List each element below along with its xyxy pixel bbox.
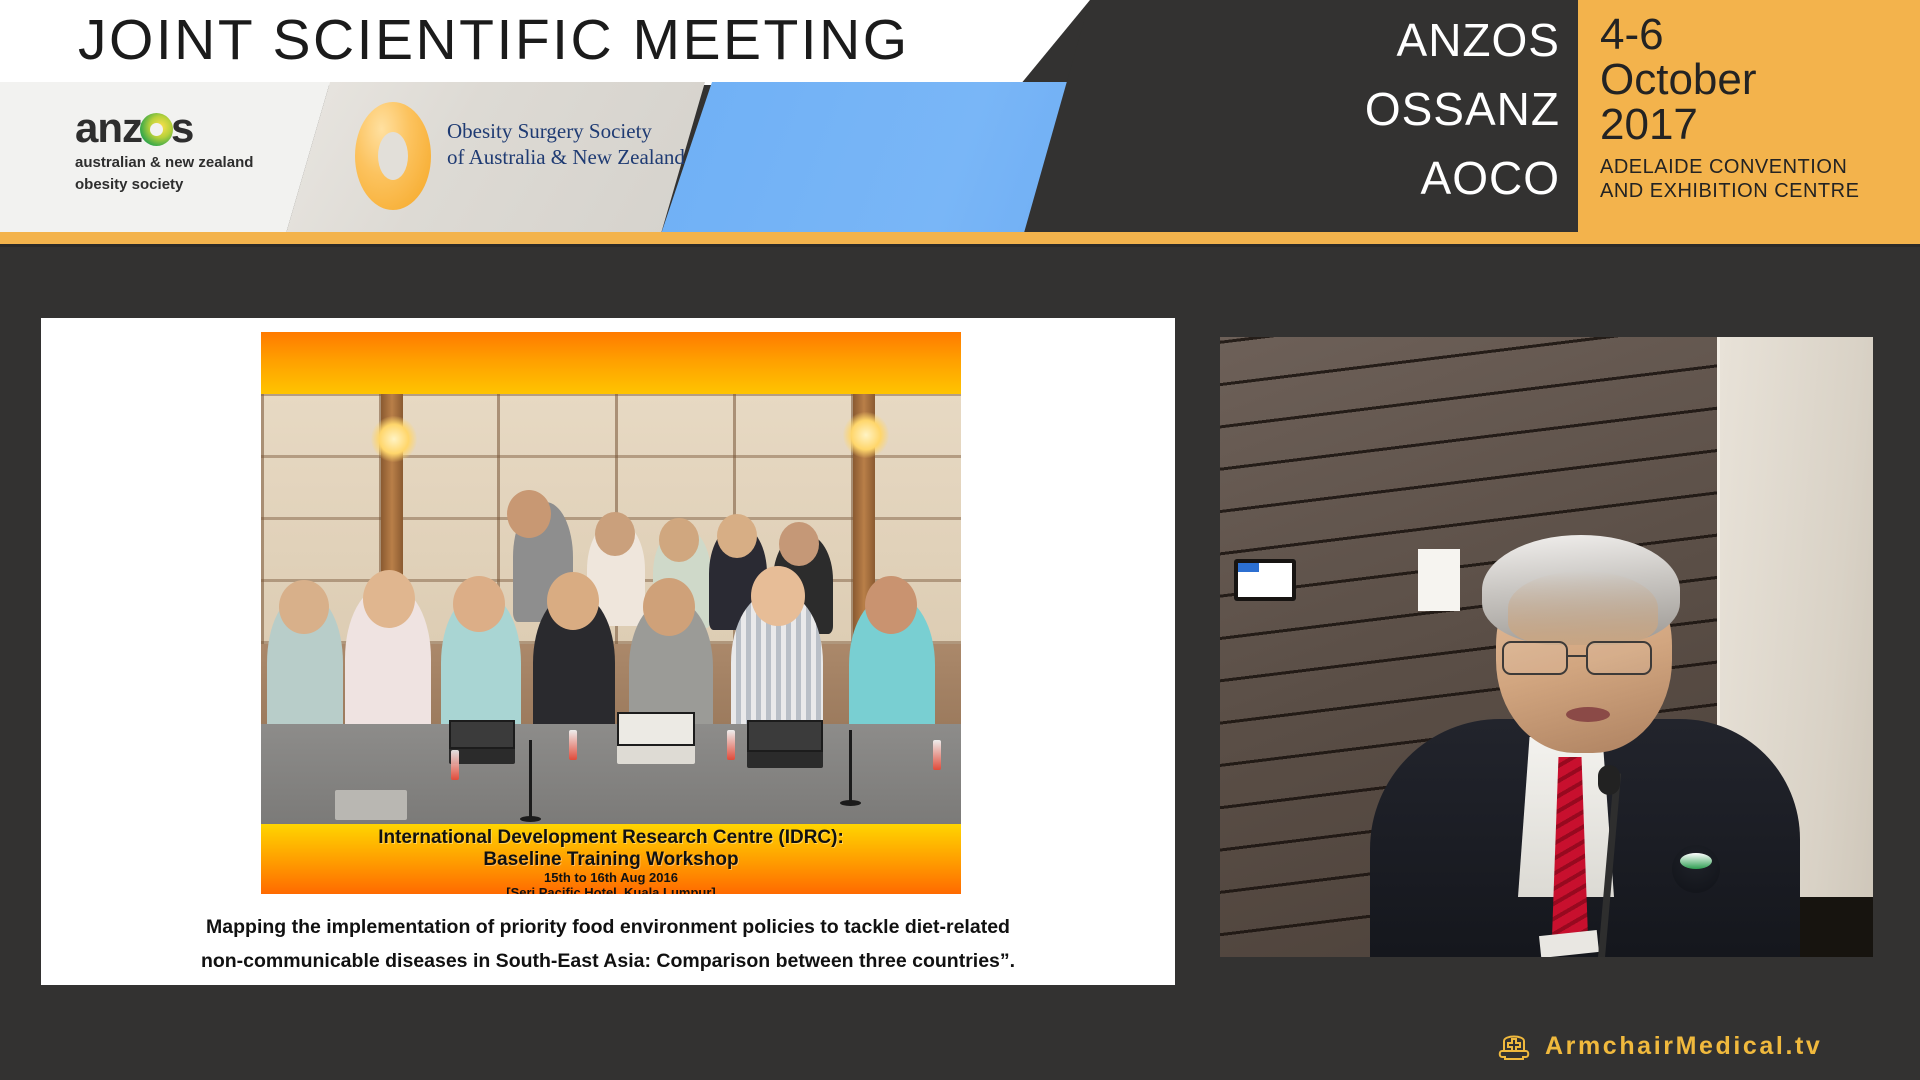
anzos-subtitle-line1: australian & new zealand	[75, 154, 305, 172]
photo-face-back-5	[779, 522, 819, 566]
photo-face-front-5	[643, 578, 695, 636]
slide-group-photo: International Development Research Centr…	[261, 332, 961, 894]
photo-bottle-1	[569, 730, 577, 760]
glasses-bridge	[1568, 655, 1586, 657]
banner-gold-rule	[0, 232, 1920, 244]
acronym-ossanz: OSSANZ	[1300, 75, 1560, 144]
anzos-logo: anzs australian & new zealand obesity so…	[75, 106, 305, 194]
photo-face-front-7	[865, 576, 917, 634]
photo-bottle-2	[727, 730, 735, 760]
event-year: 2017	[1600, 102, 1920, 147]
presenter	[1370, 529, 1800, 957]
logo-panel-anzos: anzs australian & new zealand obesity so…	[0, 82, 330, 237]
photo-top-band	[261, 332, 961, 394]
event-date-block: 4-6 October 2017 ADELAIDE CONVENTION AND…	[1578, 0, 1920, 237]
photo-face-front-3	[453, 576, 505, 632]
glasses-lens-left	[1502, 641, 1568, 675]
ossanz-name: Obesity Surgery Society of Australia & N…	[447, 118, 685, 170]
photo-face-back-3	[659, 518, 699, 562]
photo-bottle-4	[933, 740, 941, 770]
banner-dark-rule	[0, 244, 1920, 247]
photo-face-back-2	[595, 512, 635, 556]
ossanz-line1: Obesity Surgery Society	[447, 118, 685, 144]
photo-caption-line3: 15th to 16th Aug 2016	[261, 870, 961, 885]
presenter-lapel-pin	[1672, 845, 1720, 893]
ossanz-line2: of Australia & New Zealand	[447, 144, 685, 170]
photo-face-front-6	[751, 566, 805, 626]
event-venue-line2: AND EXHIBITION CENTRE	[1600, 179, 1920, 203]
photo-face-front-4	[547, 572, 599, 630]
photo-microphone-2	[849, 730, 852, 802]
presenter-mouth	[1566, 707, 1610, 722]
anzos-subtitle-line2: obesity society	[75, 176, 305, 194]
photo-caption-banner: International Development Research Centr…	[261, 824, 961, 894]
wall-lamp-left	[371, 416, 417, 462]
acronym-anzos: ANZOS	[1300, 6, 1560, 75]
page-title: JOINT SCIENTIFIC MEETING	[78, 7, 910, 73]
wall-control-panel-icon	[1234, 559, 1296, 601]
photo-face-back-4	[717, 514, 757, 558]
slide-caption-line1: Mapping the implementation of priority f…	[41, 910, 1175, 944]
photo-laptop-2	[617, 712, 695, 764]
conference-banner: JOINT SCIENTIFIC MEETING anzs australian…	[0, 0, 1920, 247]
photo-laptop-3	[747, 720, 823, 768]
koru-swirl-icon	[140, 113, 173, 146]
laptop-lid	[449, 720, 515, 749]
presenter-hair	[1482, 535, 1680, 645]
wall-lamp-right	[843, 412, 889, 458]
photo-face-back-1	[507, 490, 551, 538]
presentation-slide[interactable]: International Development Research Centr…	[41, 318, 1175, 985]
speaker-video-feed[interactable]	[1220, 337, 1873, 957]
photo-bottle-3	[451, 750, 459, 780]
glasses-lens-right	[1586, 641, 1652, 675]
laptop-lid	[747, 720, 823, 752]
photo-caption-line1: International Development Research Centr…	[261, 827, 961, 849]
photo-face-front-2	[363, 570, 415, 628]
orange-ring-icon	[355, 102, 431, 210]
panel-screen	[1238, 563, 1292, 597]
acronym-aoco: AOCO	[1300, 144, 1560, 213]
photo-face-front-1	[279, 580, 329, 634]
anzos-word-head: anz	[75, 104, 142, 151]
photo-caption-line2: Baseline Training Workshop	[261, 849, 961, 870]
anzos-word-tail: s	[171, 104, 193, 151]
photo-room-scene	[261, 394, 961, 824]
anzos-wordmark: anzs	[75, 106, 305, 150]
armchair-medical-watermark[interactable]: ArmchairMedical.tv	[1497, 1026, 1822, 1066]
event-days: 4-6	[1600, 12, 1920, 57]
photo-caption-line4: [Seri Pacific Hotel, Kuala Lumpur]	[261, 885, 961, 894]
laptop-lid	[617, 712, 695, 746]
slide-caption-line2: non-communicable diseases in South-East …	[41, 944, 1175, 978]
microphone-head-icon	[1598, 765, 1620, 795]
slide-body-text: Mapping the implementation of priority f…	[41, 910, 1175, 978]
event-month: October	[1600, 57, 1920, 102]
watermark-label: ArmchairMedical.tv	[1545, 1032, 1822, 1061]
photo-laptop-4	[335, 790, 407, 820]
event-venue-line1: ADELAIDE CONVENTION	[1600, 155, 1920, 179]
society-acronyms: ANZOS OSSANZ AOCO	[1300, 6, 1560, 236]
photo-microphone-1	[529, 740, 532, 818]
presenter-glasses-icon	[1502, 641, 1674, 675]
armchair-medical-cross-icon	[1497, 1031, 1531, 1061]
